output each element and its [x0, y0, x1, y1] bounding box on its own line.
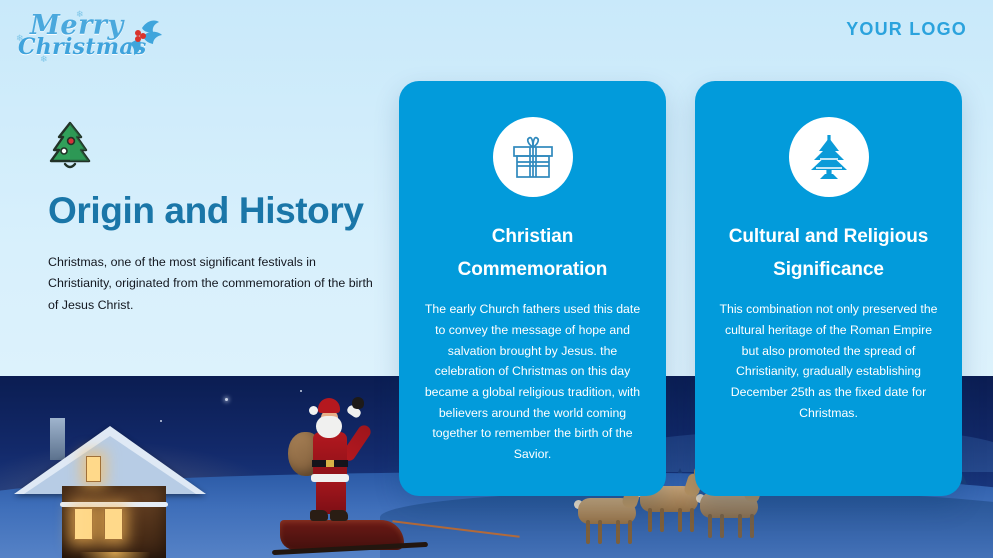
your-logo-text[interactable]: YOUR LOGO	[846, 19, 967, 40]
merry-christmas-logo[interactable]: ❄ ❄ ❄ Merry Christmas	[14, 8, 166, 62]
card-body: This combination not only preserved the …	[715, 299, 942, 423]
slide-canvas: ❄ ❄ ❄ Merry Christmas YOUR LOGO	[0, 0, 993, 558]
santa-claus	[300, 398, 364, 528]
card-body: The early Church fathers used this date …	[419, 299, 646, 464]
icon-badge	[789, 117, 869, 197]
card-title: Cultural and Religious Significance	[715, 221, 942, 286]
intro-paragraph: Christmas, one of the most significant f…	[48, 252, 378, 316]
gift-box-icon	[505, 129, 561, 185]
card-title: Christian Commemoration	[419, 221, 646, 286]
card-christian-commemoration[interactable]: Christian Commemoration The early Church…	[399, 81, 666, 496]
pine-tree-icon	[801, 129, 857, 185]
card-cultural-religious-significance[interactable]: Cultural and Religious Significance This…	[695, 81, 962, 496]
star-icon	[225, 398, 228, 401]
icon-badge	[493, 117, 573, 197]
holly-icon	[118, 16, 164, 56]
log-cabin	[22, 412, 194, 552]
star-icon	[300, 390, 302, 392]
christmas-tree-icon	[48, 120, 92, 170]
page-title: Origin and History	[48, 192, 392, 231]
left-content-column: Origin and History Christmas, one of the…	[48, 120, 392, 316]
